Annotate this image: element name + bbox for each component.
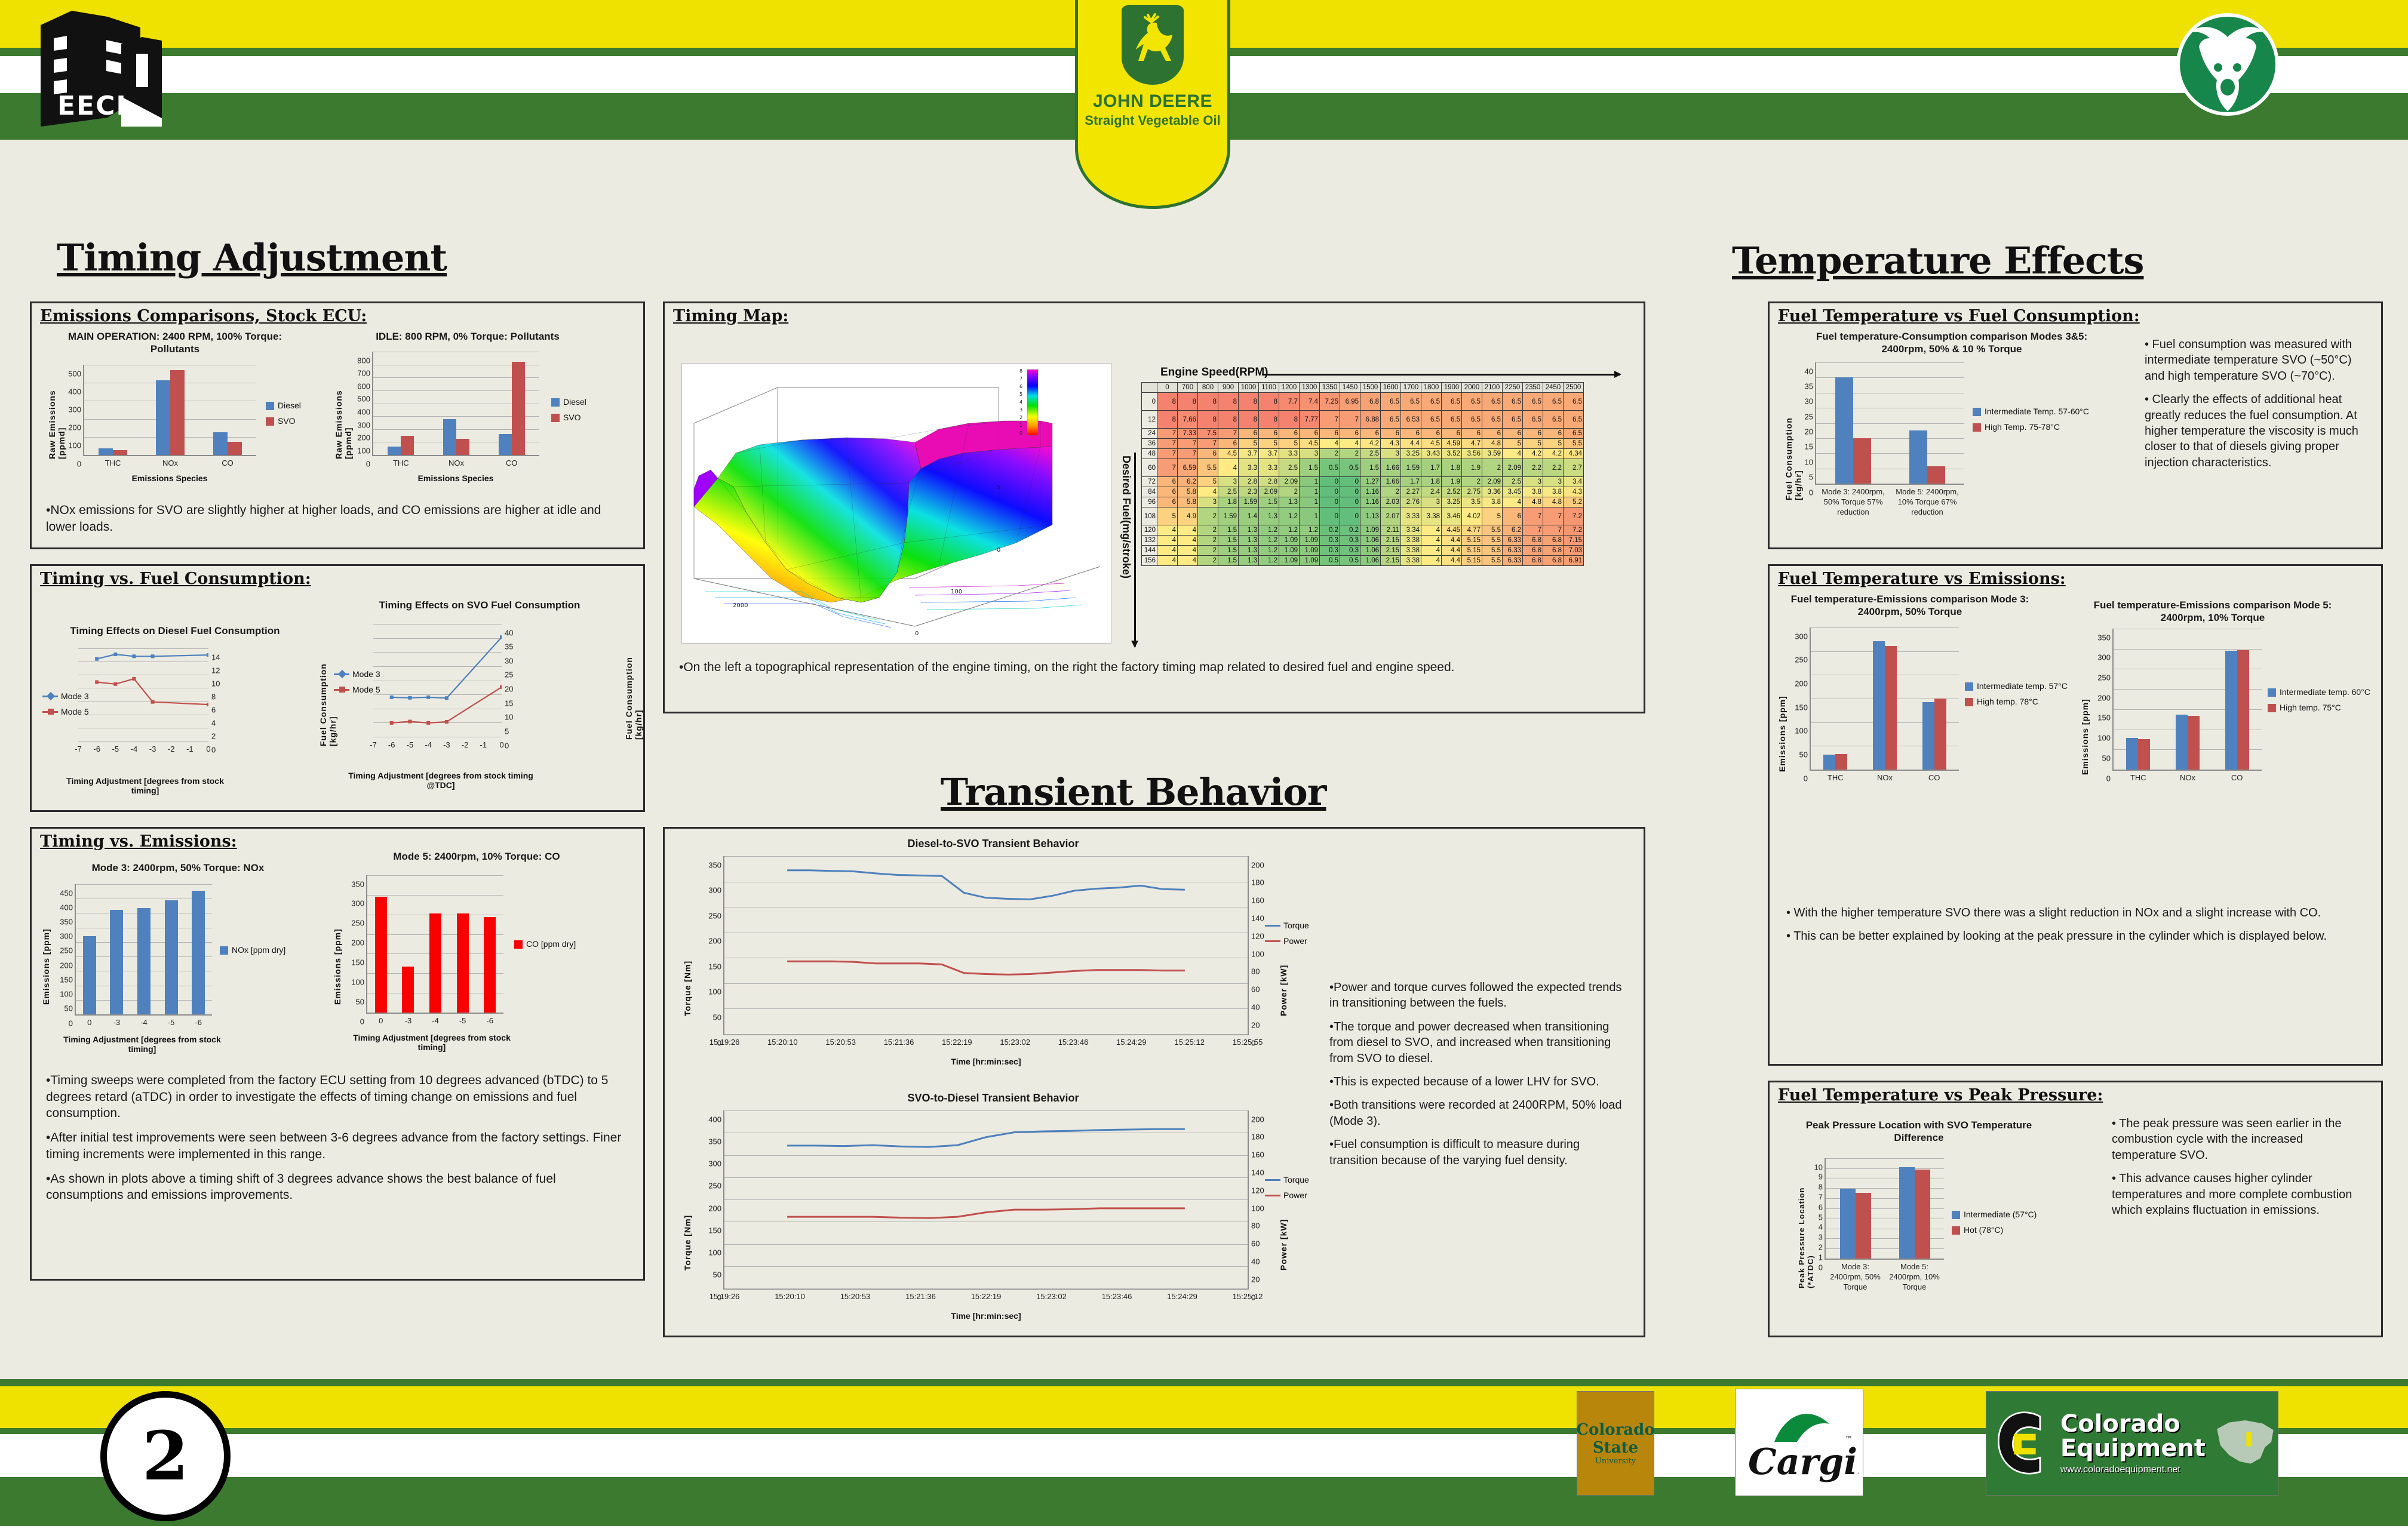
table-cell: 4.02 <box>1462 507 1482 525</box>
table-cell: 3 <box>1523 477 1543 487</box>
y-tick-label: 250 <box>351 919 367 928</box>
table-cell: 6 <box>1462 429 1482 439</box>
table-cell: 6.8 <box>1523 536 1543 546</box>
table-cell: 7 <box>1157 439 1178 449</box>
table-cell: 4.5 <box>1218 449 1239 459</box>
table-cell: 0.5 <box>1340 556 1360 566</box>
bar <box>512 362 525 455</box>
x-tick-label: -6 <box>195 1014 202 1027</box>
table-cell: 0 <box>1320 477 1340 487</box>
legend-marker-mode3 <box>334 673 349 675</box>
note-text: •NOx emissions for SVO are slightly high… <box>46 502 628 535</box>
x-tick-label: -7 <box>75 741 82 753</box>
table-cell: 3.45 <box>1503 487 1523 497</box>
x-tick-label: CO <box>506 455 518 467</box>
y-tick-label: 8 <box>1819 1183 1826 1192</box>
table-cell: 6.8 <box>1543 536 1564 546</box>
table-cell: 4 <box>1421 556 1442 566</box>
table-cell: 4 <box>1178 556 1198 566</box>
legend-label-nox: NOx [ppm dry] <box>232 945 285 955</box>
table-col-header: 2350 <box>1523 383 1543 393</box>
y2-tick-label: 80 <box>1248 967 1260 976</box>
table-cell: 1.5 <box>1218 525 1239 536</box>
y-tick-label: 200 <box>357 433 373 442</box>
y-tick-label: 300 <box>357 420 373 429</box>
legend-marker-mode3 <box>42 696 58 697</box>
table-cell: 2.07 <box>1381 507 1401 525</box>
table-cell: 6 <box>1543 429 1564 439</box>
table-cell: 1.5 <box>1218 536 1239 546</box>
table-col-header: 800 <box>1198 383 1218 393</box>
chart-legend: CO [ppm dry] <box>514 939 576 955</box>
table-cell: 6.5 <box>1442 393 1462 411</box>
table-cell: 2.75 <box>1462 487 1482 497</box>
y-tick-label: 50 <box>1799 750 1811 759</box>
table-cell: 1.5 <box>1300 459 1320 477</box>
table-col-header: 1700 <box>1401 383 1421 393</box>
table-cell: 0 <box>1340 477 1360 487</box>
john-deere-tagline: Straight Vegetable Oil <box>1085 113 1220 128</box>
legend-label-intermediate: Intermediate temp. 57°C <box>1977 681 2068 691</box>
legend-swatch-intermediate <box>1952 1211 1960 1219</box>
y-tick-label: 50 <box>713 1013 724 1022</box>
table-cell: 0.5 <box>1320 556 1340 566</box>
bullet-item: •As shown in plots above a timing shift … <box>46 1171 628 1204</box>
table-cell: 1.4 <box>1239 507 1259 525</box>
bar <box>2176 715 2188 770</box>
table-cell: 0.2 <box>1340 525 1360 536</box>
y-tick-label: 6 <box>1819 1202 1826 1211</box>
table-row-header: 84 <box>1142 487 1157 497</box>
table-col-header: 1800 <box>1421 383 1442 393</box>
legend-label-hot: Hot (78°C) <box>1964 1225 2003 1235</box>
table-cell: 6 <box>1259 429 1279 439</box>
legend-swatch-diesel <box>551 398 560 407</box>
chart-svo-to-diesel-transient: SVO-to-Diesel Transient Behavior Torque … <box>677 1091 1316 1324</box>
table-cell: 2.09 <box>1279 477 1300 487</box>
table-cell: 7 <box>1543 525 1564 536</box>
table-col-header: 1350 <box>1320 383 1340 393</box>
svg-text:6: 6 <box>1019 384 1022 389</box>
grid-line <box>1826 1168 1944 1169</box>
y-tick-label: 300 <box>2097 653 2114 662</box>
grid-line <box>1811 627 1959 628</box>
table-row-header: 0 <box>1142 393 1157 411</box>
bar <box>137 908 150 1014</box>
y-tick-label: 300 <box>708 886 724 895</box>
table-cell: 4 <box>1198 487 1218 497</box>
table-cell: 1.3 <box>1239 525 1259 536</box>
chart-legend: Intermediate temp. 57°C High temp. 78°C <box>1965 681 2075 712</box>
table-cell: 6 <box>1482 429 1503 439</box>
chart-legend: Intermediate Temp. 57-60°C High Temp. 75… <box>1973 407 2092 438</box>
table-cell: 1.09 <box>1279 536 1300 546</box>
table-cell: 4.8 <box>1482 439 1503 449</box>
timing-map-note: •On the left a topographical representat… <box>668 654 1636 688</box>
y-tick-label: 25 <box>1805 412 1816 421</box>
table-cell: 1.2 <box>1259 546 1279 556</box>
x-tick-label: 15:21:36 <box>884 1034 914 1047</box>
legend-marker-mode5 <box>334 689 349 691</box>
svg-text:0: 0 <box>1019 430 1022 436</box>
table-cell: 2.15 <box>1381 556 1401 566</box>
table-col-header: 2000 <box>1462 383 1482 393</box>
chart-title: Mode 3: 2400rpm, 50% Torque: NOx <box>59 862 297 874</box>
table-row: 1444421.51.31.21.091.090.30.31.062.153.3… <box>1142 546 1584 556</box>
x-axis-label: Time [hr:min:sec] <box>723 1057 1249 1066</box>
table-cell: 7 <box>1340 411 1360 429</box>
chart-title: Timing Effects on SVO Fuel Consumption <box>360 599 599 611</box>
table-cell: 0.3 <box>1340 536 1360 546</box>
table-cell: 6.5 <box>1462 411 1482 429</box>
table-cell: 2.11 <box>1381 525 1401 536</box>
table-row-header: 60 <box>1142 459 1157 477</box>
table-cell: 1.06 <box>1360 556 1381 566</box>
ce-line1: Colorado <box>2060 1412 2206 1436</box>
table-cell: 3 <box>1381 449 1401 459</box>
chart-legend: Mode 3 Mode 5 <box>334 669 380 700</box>
y-tick-label: 150 <box>708 962 724 971</box>
table-cell: 4.5 <box>1300 439 1320 449</box>
x-tick-label: 15:24:29 <box>1116 1034 1147 1047</box>
chart-peak-pressure-location: Peak Pressure Location with SVO Temperat… <box>1776 1109 2110 1333</box>
x-tick-label: 15:22:19 <box>971 1288 1002 1301</box>
table-cell: 3 <box>1543 477 1564 487</box>
table-cell: 8 <box>1239 393 1259 411</box>
timing-map-surface-plot: 2000 100 0 0 5 876 543 210 <box>681 363 1111 644</box>
table-cell: 2.5 <box>1279 459 1300 477</box>
x-tick-label: NOx <box>449 455 464 467</box>
table-cell: 1 <box>1300 487 1320 497</box>
x-axis-label: Time [hr:min:sec] <box>723 1311 1249 1321</box>
svg-text:1: 1 <box>1019 423 1022 428</box>
table-cell: 3.4 <box>1564 477 1584 487</box>
legend-marker-mode5 <box>42 711 58 713</box>
table-cell: 6.5 <box>1503 411 1523 429</box>
table-cell: 3.8 <box>1482 497 1503 507</box>
y-axis-label: Raw Emissions [ppmd] <box>334 358 353 459</box>
x-tick-label: -4 <box>140 1014 148 1027</box>
x-tick-label: -5 <box>168 1014 175 1027</box>
table-cell: 7 <box>1218 429 1239 439</box>
table-cell: 4 <box>1421 525 1442 536</box>
bar <box>83 936 96 1014</box>
table-cell: 5 <box>1198 477 1218 487</box>
table-cell: 6 <box>1503 507 1523 525</box>
table-cell: 1.09 <box>1300 536 1320 546</box>
table-cell: 2.5 <box>1503 477 1523 487</box>
table-cell: 6 <box>1442 429 1462 439</box>
panel-fuel-temp-peak-pressure: Fuel Temperature vs Peak Pressure: Peak … <box>1768 1081 2383 1337</box>
plot-area: 012345678910Mode 3: 2400rpm, 50% TorqueM… <box>1825 1158 1944 1260</box>
y2-tick-label: 160 <box>1248 1150 1264 1159</box>
table-cell: 8 <box>1157 411 1178 429</box>
table-cell: 1 <box>1300 477 1320 487</box>
john-deere-brand: JOHN DEERE <box>1093 91 1212 112</box>
table-cell: 5.2 <box>1564 497 1584 507</box>
table-cell: 7 <box>1198 439 1218 449</box>
table-cell: 1.5 <box>1218 546 1239 556</box>
table-row-header: 108 <box>1142 507 1157 525</box>
y2-tick-label: 180 <box>1248 878 1264 887</box>
table-row-header: 144 <box>1142 546 1157 556</box>
table-cell: 8 <box>1259 393 1279 411</box>
bar <box>228 442 242 455</box>
plot-area: 0100200300400500THCNOxCO <box>83 365 256 456</box>
y-tick-label: 200 <box>1795 679 1811 688</box>
y-tick-label: 150 <box>351 958 367 967</box>
table-col-header: 1900 <box>1442 383 1462 393</box>
table-cell: 8 <box>1239 411 1259 429</box>
legend-swatch-high <box>2268 704 2276 712</box>
table-cell: 4 <box>1178 536 1198 546</box>
table-cell: 5.15 <box>1462 556 1482 566</box>
y-tick-label: 3 <box>1819 1233 1826 1242</box>
usa-map-icon <box>2213 1411 2278 1476</box>
legend-marker-power <box>1265 940 1280 942</box>
bar <box>113 450 127 455</box>
table-cell: 1.7 <box>1401 477 1421 487</box>
table-cell: 1.3 <box>1259 507 1279 525</box>
y-tick-label: 200 <box>60 961 76 970</box>
chart-title: Mode 5: 2400rpm, 10% Torque: CO <box>357 850 596 863</box>
table-cell: 1.16 <box>1360 487 1381 497</box>
table-cell: 4.2 <box>1543 449 1564 459</box>
table-cell: 4 <box>1157 546 1178 556</box>
bullet-item: •Both transitions were recorded at 2400R… <box>1329 1097 1627 1129</box>
table-cell: 2.2 <box>1543 459 1564 477</box>
table-cell: 3.46 <box>1442 507 1462 525</box>
table-cell: 7.03 <box>1564 546 1584 556</box>
y-tick-label: 250 <box>2097 673 2114 682</box>
table-cell: 3.43 <box>1421 449 1442 459</box>
svg-text:3: 3 <box>1019 407 1022 413</box>
x-tick-label: 15:20:10 <box>775 1288 805 1301</box>
table-col-header: 1300 <box>1300 383 1320 393</box>
bar <box>99 448 113 455</box>
legend-label-svo: SVO <box>563 413 581 422</box>
table-cell: 6 <box>1198 449 1218 459</box>
table-cell: 6 <box>1300 429 1320 439</box>
table-cell: 2 <box>1462 477 1482 487</box>
y-tick-label: 5 <box>502 727 509 736</box>
y-tick-label: 10 <box>1805 457 1816 466</box>
table-cell: 6.5 <box>1564 393 1584 411</box>
chart-fuel-temp-consumption: Fuel temperature-Consumption comparison … <box>1776 330 2140 545</box>
table-cell: 1.59 <box>1239 497 1259 507</box>
table-cell: 6.5 <box>1381 393 1401 411</box>
x-tick-label: -5 <box>407 737 414 749</box>
table-cell: 6.8 <box>1360 393 1381 411</box>
table-cell: 7 <box>1157 449 1178 459</box>
y2-tick-label: 40 <box>1248 1257 1260 1266</box>
table-cell: 6.5 <box>1442 411 1462 429</box>
table-cell: 5.5 <box>1198 459 1218 477</box>
table-cell: 1.9 <box>1462 459 1482 477</box>
desired-fuel-label: Desired Fuel(mg/stroke) <box>1120 456 1132 635</box>
bar <box>443 419 456 455</box>
table-cell: 3.3 <box>1239 459 1259 477</box>
table-cell: 3.25 <box>1401 449 1421 459</box>
table-row-header: 72 <box>1142 477 1157 487</box>
y-tick-label: 30 <box>502 656 513 665</box>
page-title-transient-behavior: Transient Behavior <box>941 770 1326 814</box>
bar <box>2225 651 2237 770</box>
table-cell: 3 <box>1421 497 1442 507</box>
table-col-header: 1600 <box>1381 383 1401 393</box>
table-cell: 1.5 <box>1218 556 1239 566</box>
table-row: 1287.66888887.77776.886.56.536.56.56.56.… <box>1142 411 1584 429</box>
table-row: 487764.53.73.73.33222.533.253.433.523.56… <box>1142 449 1584 459</box>
bar <box>165 900 178 1014</box>
grid-line <box>84 365 256 365</box>
y-tick-label: 350 <box>708 860 724 869</box>
table-cell: 6 <box>1239 429 1259 439</box>
table-cell: 7.66 <box>1178 411 1198 429</box>
table-row: 08888887.77.47.256.956.86.56.56.56.56.56… <box>1142 393 1584 411</box>
legend-label-high: High Temp. 75-78°C <box>1985 422 2060 432</box>
table-cell: 1 <box>1300 507 1320 525</box>
table-cell: 6.2 <box>1178 477 1198 487</box>
bar <box>1856 1193 1871 1259</box>
y-tick-label: 14 <box>208 653 220 662</box>
x-tick-label: 15:25:12 <box>1174 1034 1205 1047</box>
table-cell: 4 <box>1157 556 1178 566</box>
bar <box>1934 699 1946 770</box>
table-cell: 3.52 <box>1442 449 1462 459</box>
table-cell: 2.4 <box>1421 487 1442 497</box>
x-tick-label: -5 <box>459 1013 466 1025</box>
table-row-header: 36 <box>1142 439 1157 449</box>
y-axis-label: Emissions [ppm] <box>1777 670 1787 772</box>
table-cell: 2 <box>1198 546 1218 556</box>
table-cell: 0.5 <box>1340 459 1360 477</box>
table-cell: 3.38 <box>1421 507 1442 525</box>
table-cell: 0 <box>1320 487 1340 497</box>
table-cell: 3.38 <box>1401 556 1421 566</box>
table-cell: 4.34 <box>1564 449 1584 459</box>
bar <box>1823 755 1835 770</box>
bullet-item: •Power and torque curves followed the ex… <box>1329 980 1627 1011</box>
table-cell: 3 <box>1300 449 1320 459</box>
table-cell: 6 <box>1381 429 1401 439</box>
y-tick-label: 300 <box>351 899 367 908</box>
table-cell: 1.5 <box>1360 459 1381 477</box>
table-cell: 3.33 <box>1401 507 1421 525</box>
engine-speed-arrow-icon <box>1262 374 1620 376</box>
table-cell: 1.8 <box>1442 459 1462 477</box>
csu-line3: University <box>1595 1457 1636 1466</box>
table-cell: 6.5 <box>1503 393 1523 411</box>
table-cell: 6 <box>1360 429 1381 439</box>
table-cell: 6.88 <box>1360 411 1381 429</box>
legend-label-co: CO [ppm dry] <box>526 939 576 949</box>
y-tick-label: 600 <box>357 381 373 390</box>
chart-fuel-temp-emissions-mode3: Fuel temperature-Emissions comparison Mo… <box>1773 593 2083 802</box>
table-cell: 5 <box>1503 439 1523 449</box>
table-cell: 1.5 <box>1259 497 1279 507</box>
x-tick-label: 0 <box>379 1013 383 1025</box>
table-cell: 7.2 <box>1564 525 1584 536</box>
y-tick-label: 450 <box>60 888 76 897</box>
table-cell: 6.95 <box>1340 393 1360 411</box>
table-cell: 1.09 <box>1279 546 1300 556</box>
table-cell: 0 <box>1340 487 1360 497</box>
y-tick-label: 4 <box>208 719 216 728</box>
chart-title: SVO-to-Diesel Transient Behavior <box>724 1091 1262 1105</box>
svg-text:Cargill: Cargill <box>1748 1441 1859 1483</box>
y-tick-label: 200 <box>2097 693 2114 702</box>
table-cell: 7.4 <box>1300 393 1320 411</box>
table-cell: 8 <box>1259 411 1279 429</box>
deer-icon <box>1120 3 1185 87</box>
legend-label-high: High temp. 75°C <box>2280 703 2341 712</box>
y2-tick-label: 120 <box>1248 931 1264 940</box>
x-tick-label: -2 <box>462 737 469 749</box>
bar <box>375 897 387 1013</box>
chart-legend: Intermediate temp. 60°C High temp. 75°C <box>2268 687 2378 718</box>
table-cell: 2.2 <box>1523 459 1543 477</box>
x-tick-label: -3 <box>443 737 450 749</box>
table-cell: 4.45 <box>1442 525 1462 536</box>
bar <box>156 380 170 455</box>
x-tick-label: -3 <box>113 1014 121 1027</box>
y-tick-label: 40 <box>502 628 513 637</box>
table-cell: 1.8 <box>1218 497 1239 507</box>
table-cell: 6.8 <box>1523 556 1543 566</box>
table-cell: 5.5 <box>1482 556 1503 566</box>
table-cell: 7 <box>1523 525 1543 536</box>
y-tick-label: 150 <box>1795 703 1811 712</box>
y-tick-label: 500 <box>357 395 373 404</box>
legend-marker-torque <box>1265 925 1280 927</box>
table-cell: 1.2 <box>1259 525 1279 536</box>
legend-label-power: Power <box>1283 1190 1307 1200</box>
y-tick-label: 400 <box>357 408 373 417</box>
y-tick-label: 15 <box>502 699 513 707</box>
table-cell: 1.3 <box>1239 536 1259 546</box>
table-cell: 7.77 <box>1300 411 1320 429</box>
table-cell: 0.2 <box>1320 525 1340 536</box>
table-col-header: 700 <box>1178 383 1198 393</box>
table-cell: 1.09 <box>1300 556 1320 566</box>
panel-fuel-temp-emissions: Fuel Temperature vs Emissions: Fuel temp… <box>1768 564 2383 1066</box>
y-tick-label: 250 <box>708 1182 724 1190</box>
table-cell: 7 <box>1157 429 1178 439</box>
table-cell: 2 <box>1320 449 1340 459</box>
table-cell: 2.3 <box>1239 487 1259 497</box>
emissions-note: •NOx emissions for SVO are slightly high… <box>35 497 638 547</box>
y2-tick-label: 100 <box>1248 1204 1264 1213</box>
chart-legend: Torque Power <box>1265 1175 1309 1206</box>
table-row-header: 96 <box>1142 497 1157 507</box>
legend-label-mode3: Mode 3 <box>352 669 380 679</box>
table-cell: 3.5 <box>1462 497 1482 507</box>
table-cell: 7 <box>1178 439 1198 449</box>
chart-legend: NOx [ppm dry] <box>220 945 285 961</box>
bar <box>484 917 496 1013</box>
y-tick-label: 30 <box>1805 397 1816 406</box>
table-cell: 5.5 <box>1482 536 1503 546</box>
svg-text:2000: 2000 <box>733 602 748 609</box>
y-axis-label: Emissions [ppm] <box>2080 673 2090 775</box>
table-cell: 6.5 <box>1523 393 1543 411</box>
x-tick-label: -2 <box>168 741 175 753</box>
table-cell: 1.27 <box>1360 477 1381 487</box>
panel-transient-behavior: Diesel-to-SVO Transient Behavior Torque … <box>663 827 1645 1337</box>
x-tick-label: CO <box>222 455 234 467</box>
legend-label-power: Power <box>1283 936 1307 946</box>
